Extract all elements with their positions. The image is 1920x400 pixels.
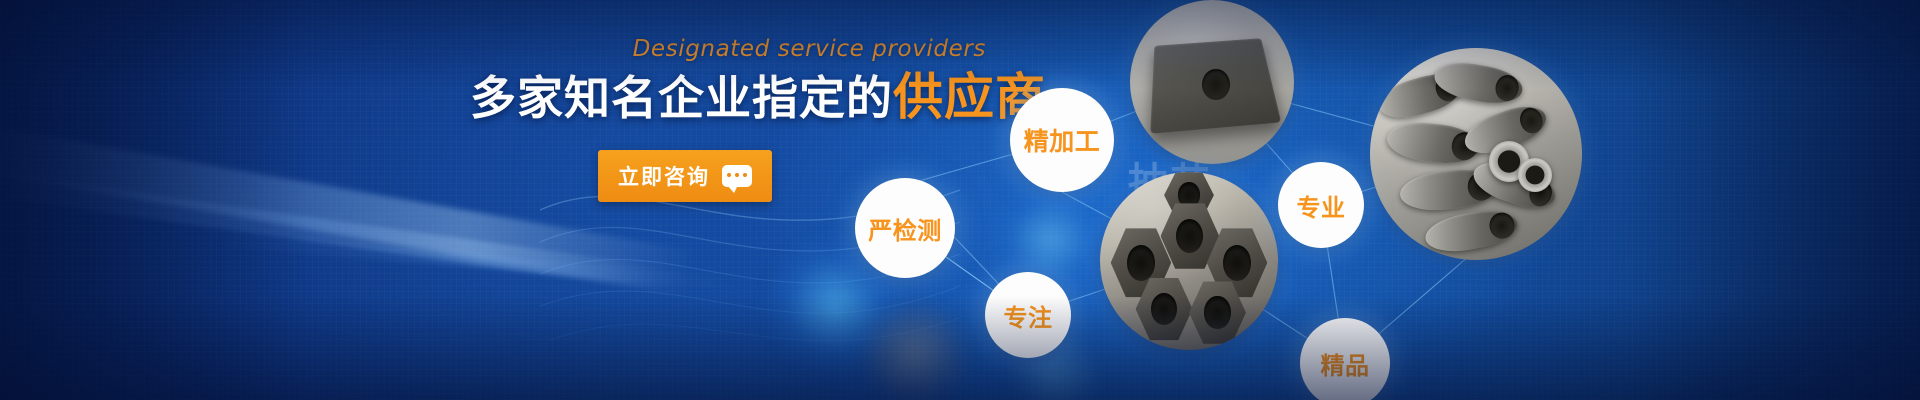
keyword-label-yjc: 严检测 [868,211,942,246]
keyword-label-jp: 精品 [1321,346,1370,381]
chat-bubble-icon [722,165,752,187]
keyword-circle-zz[interactable]: 专注 [985,272,1071,358]
keyword-circle-yjc[interactable]: 严检测 [855,178,955,278]
keyword-label-jjg: 精加工 [1024,122,1101,158]
square-plate-with-hole-photo [1130,0,1294,164]
keyword-circle-zy[interactable]: 专业 [1278,162,1364,248]
hero-headline: 多家知名企业指定的供应商 [470,68,990,127]
keyword-label-zy: 专业 [1297,188,1346,223]
glow-spot-3 [860,300,970,400]
light-ribbon-1 [0,118,692,295]
hero-banner: Designated service providers 多家知名企业指定的供应… [0,0,1920,400]
hex-nuts-photo [1100,172,1278,350]
metal-tubes-photo [1370,48,1582,260]
consult-now-label: 立即咨询 [618,161,710,191]
hero-copy-block: Designated service providers 多家知名企业指定的供应… [470,36,990,127]
hero-tagline: Designated service providers [470,36,990,62]
consult-now-button[interactable]: 立即咨询 [598,150,772,202]
keyword-circle-jp[interactable]: 精品 [1300,318,1390,400]
keyword-label-zz: 专注 [1004,298,1053,333]
light-ribbon-3 [219,232,738,291]
light-ribbon-2 [0,168,655,289]
keyword-circle-jjg[interactable]: 精加工 [1010,88,1114,192]
plate-hole-shape [1202,69,1230,100]
headline-white-part: 多家知名企业指定的 [470,71,893,125]
